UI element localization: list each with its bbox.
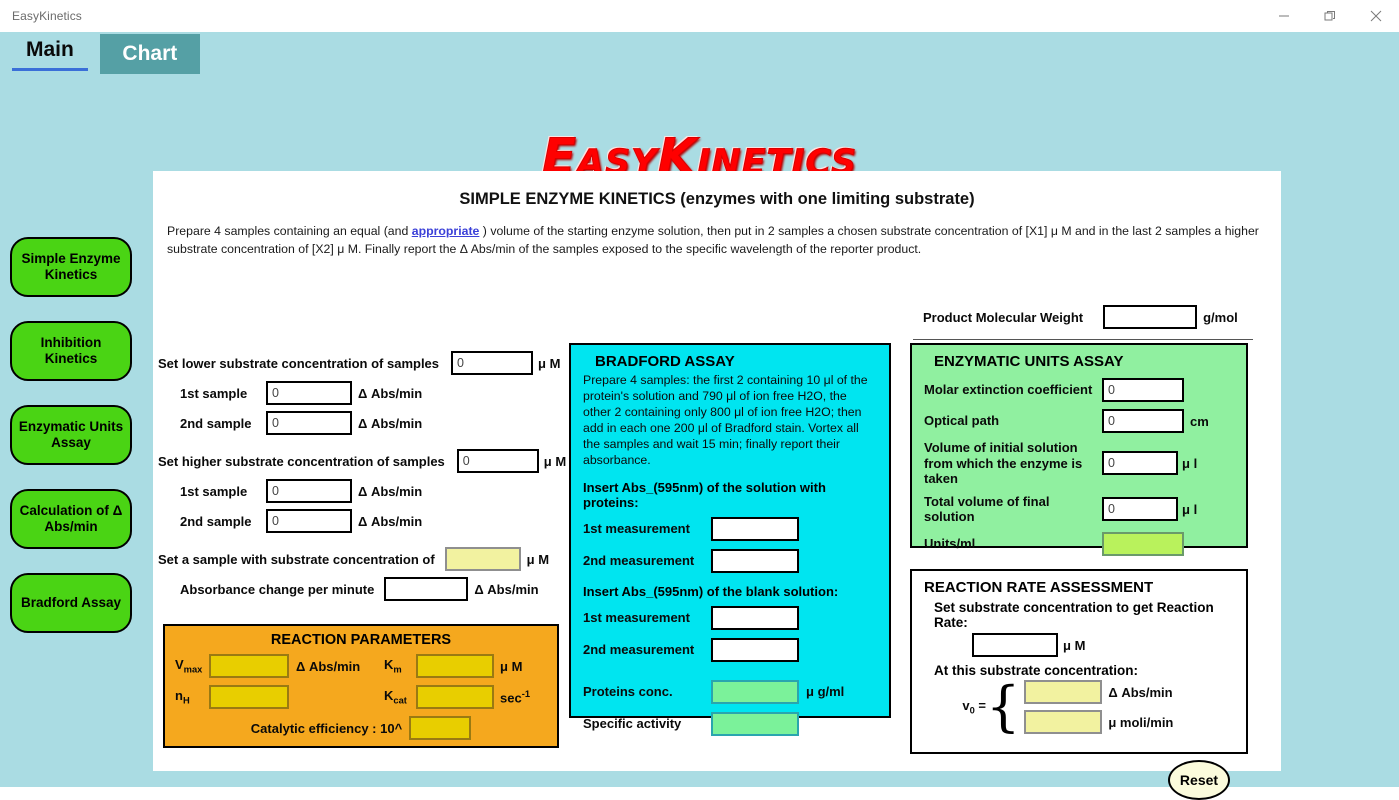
vmax-input[interactable] <box>209 654 289 678</box>
molar-extinction-input[interactable]: 0 <box>1102 378 1184 402</box>
lower-concentration-row: Set lower substrate concentration of sam… <box>158 351 568 375</box>
lower-concentration-input[interactable]: 0 <box>451 351 533 375</box>
bradford-blank-subtitle: Insert Abs_(595nm) of the blank solution… <box>583 584 877 599</box>
higher-concentration-input[interactable]: 0 <box>457 449 539 473</box>
tab-bar: Main Chart <box>0 34 200 78</box>
bradford-assay-panel: BRADFORD ASSAY Prepare 4 samples: the fi… <box>569 343 891 718</box>
units-per-ml-output <box>1102 532 1184 556</box>
bradford-specific-activity-output <box>711 712 799 736</box>
bradford-protein-m2-row: 2nd measurement <box>583 549 877 573</box>
lower-sample1-input[interactable]: 0 <box>266 381 352 405</box>
nh-kcat-row: nH Kcat sec-1 <box>175 685 547 709</box>
bradford-protein-m1-label: 1st measurement <box>583 521 711 536</box>
lower-sample2-input[interactable]: 0 <box>266 411 352 435</box>
volume-initial-input[interactable]: 0 <box>1102 451 1178 475</box>
bradford-description: Prepare 4 samples: the first 2 containin… <box>583 373 877 469</box>
product-mw-label: Product Molecular Weight <box>923 310 1083 325</box>
v0-moli-row: μ moli/min <box>1024 710 1173 734</box>
molar-extinction-row: Molar extinction coefficient 0 <box>924 378 1234 402</box>
bradford-protein-m2-label: 2nd measurement <box>583 553 711 568</box>
reaction-rate-title: REACTION RATE ASSESSMENT <box>924 579 1234 596</box>
bradford-protein-conc-unit: μ g/ml <box>806 684 844 699</box>
vmax-km-row: Vmax Δ Abs/min Km μ M <box>175 654 547 678</box>
higher-sample2-unit: Δ Abs/min <box>358 514 422 529</box>
sidebar-item-calculation-of-delta-abs-min[interactable]: Calculation of Δ Abs/min <box>10 489 132 549</box>
bradford-protein-m1-row: 1st measurement <box>583 517 877 541</box>
window-controls <box>1261 0 1399 32</box>
optical-path-input[interactable]: 0 <box>1102 409 1184 433</box>
nh-input[interactable] <box>209 685 289 709</box>
substrate-form: Set lower substrate concentration of sam… <box>158 351 568 607</box>
sample-concentration-unit: μ M <box>527 552 549 567</box>
kcat-label: Kcat <box>384 688 416 706</box>
reaction-rate-sub-label: Set substrate concentration to get React… <box>934 600 1234 630</box>
brace-icon: { <box>986 687 1020 727</box>
bradford-protein-m2-input[interactable] <box>711 549 799 573</box>
window-title: EasyKinetics <box>0 9 82 23</box>
bradford-blank-m1-label: 1st measurement <box>583 610 711 625</box>
sample-concentration-label: Set a sample with substrate concentratio… <box>158 552 435 567</box>
enzymatic-units-assay-panel: ENZYMATIC UNITS ASSAY Molar extinction c… <box>910 343 1248 548</box>
lower-sample1-row: 1st sample 0 Δ Abs/min <box>180 381 568 405</box>
optical-path-label: Optical path <box>924 413 1102 429</box>
lower-concentration-unit: μ M <box>538 356 560 371</box>
km-label: Km <box>384 657 416 675</box>
km-unit: μ M <box>500 659 522 674</box>
lower-sample1-label: 1st sample <box>180 386 266 401</box>
v0-label: v0 = <box>924 698 986 716</box>
bradford-protein-conc-label: Proteins conc. <box>583 684 711 699</box>
v0-moli-output <box>1024 710 1102 734</box>
bradford-blank-m2-row: 2nd measurement <box>583 638 877 662</box>
bradford-protein-conc-output <box>711 680 799 704</box>
higher-concentration-label: Set higher substrate concentration of sa… <box>158 454 445 469</box>
bradford-protein-m1-input[interactable] <box>711 517 799 541</box>
product-mw-unit: g/mol <box>1203 310 1238 325</box>
units-per-ml-row: Units/ml <box>924 532 1234 556</box>
bradford-blank-m1-row: 1st measurement <box>583 606 877 630</box>
optical-path-row: Optical path 0 cm <box>924 409 1234 433</box>
higher-sample1-label: 1st sample <box>180 484 266 499</box>
higher-sample2-input[interactable]: 0 <box>266 509 352 533</box>
lower-concentration-label: Set lower substrate concentration of sam… <box>158 356 439 371</box>
bradford-specific-activity-label: Specific activity <box>583 716 711 731</box>
reaction-rate-at-label: At this substrate concentration: <box>934 663 1234 678</box>
higher-concentration-unit: μ M <box>544 454 566 469</box>
absorbance-change-input[interactable] <box>384 577 468 601</box>
bradford-blank-m2-label: 2nd measurement <box>583 642 711 657</box>
v0-moli-unit: μ moli/min <box>1108 715 1173 730</box>
enzymatic-units-title: ENZYMATIC UNITS ASSAY <box>924 353 1234 370</box>
volume-total-input[interactable]: 0 <box>1102 497 1178 521</box>
reaction-rate-conc-row: μ M <box>972 633 1234 657</box>
product-molecular-weight-row: Product Molecular Weight g/mol <box>923 305 1238 329</box>
bradford-protein-conc-row: Proteins conc. μ g/ml <box>583 680 877 704</box>
higher-sample2-label: 2nd sample <box>180 514 266 529</box>
kcat-input[interactable] <box>416 685 494 709</box>
volume-total-unit: μ l <box>1182 502 1197 517</box>
reaction-rate-conc-input[interactable] <box>972 633 1058 657</box>
app-body: Main Chart EasyKinetics Simple Enzyme Ki… <box>0 32 1399 787</box>
catalytic-efficiency-row: Catalytic efficiency : 10^ <box>175 716 547 740</box>
title-bar: EasyKinetics <box>0 0 1399 32</box>
higher-sample2-row: 2nd sample 0 Δ Abs/min <box>180 509 568 533</box>
higher-sample1-input[interactable]: 0 <box>266 479 352 503</box>
km-input[interactable] <box>416 654 494 678</box>
absorbance-change-unit: Δ Abs/min <box>474 582 538 597</box>
molar-extinction-label: Molar extinction coefficient <box>924 382 1102 398</box>
units-per-ml-label: Units/ml <box>924 536 1102 552</box>
appropriate-link[interactable]: appropriate <box>412 224 480 238</box>
bradford-title: BRADFORD ASSAY <box>583 353 877 370</box>
catalytic-efficiency-label: Catalytic efficiency : 10^ <box>251 721 402 736</box>
nh-label: nH <box>175 688 209 706</box>
reset-button[interactable]: Reset <box>1168 760 1230 800</box>
lower-sample2-label: 2nd sample <box>180 416 266 431</box>
reaction-rate-conc-unit: μ M <box>1063 638 1085 653</box>
lower-sample2-row: 2nd sample 0 Δ Abs/min <box>180 411 568 435</box>
sidebar-item-bradford-assay[interactable]: Bradford Assay <box>10 573 132 633</box>
volume-total-row: Total volume of final solution 0 μ l <box>924 494 1234 525</box>
higher-sample1-row: 1st sample 0 Δ Abs/min <box>180 479 568 503</box>
bradford-blank-m2-input[interactable] <box>711 638 799 662</box>
lower-sample1-unit: Δ Abs/min <box>358 386 422 401</box>
sample-concentration-input[interactable] <box>445 547 521 571</box>
reaction-rate-results: v0 = { Δ Abs/min μ moli/min <box>924 680 1234 734</box>
vmax-unit: Δ Abs/min <box>296 659 372 674</box>
page-description: Prepare 4 samples containing an equal (a… <box>167 223 1267 259</box>
bradford-specific-activity-row: Specific activity <box>583 712 877 736</box>
reaction-parameters-title: REACTION PARAMETERS <box>175 632 547 648</box>
sidebar-item-simple-enzyme-kinetics[interactable]: Simple Enzyme Kinetics <box>10 237 132 297</box>
v0-abs-row: Δ Abs/min <box>1024 680 1173 704</box>
main-panel: SIMPLE ENZYME KINETICS (enzymes with one… <box>153 171 1281 771</box>
optical-path-unit: cm <box>1190 414 1209 429</box>
higher-sample1-unit: Δ Abs/min <box>358 484 422 499</box>
description-text-part1: Prepare 4 samples containing an equal (a… <box>167 224 412 238</box>
kcat-unit: sec-1 <box>500 689 530 705</box>
catalytic-efficiency-input[interactable] <box>409 716 471 740</box>
absorbance-change-label: Absorbance change per minute <box>180 582 374 597</box>
volume-initial-row: Volume of initial solution from which th… <box>924 440 1234 487</box>
volume-initial-label: Volume of initial solution from which th… <box>924 440 1102 487</box>
sample-concentration-row: Set a sample with substrate concentratio… <box>158 547 568 571</box>
absorbance-change-row: Absorbance change per minute Δ Abs/min <box>180 577 568 601</box>
tab-main[interactable]: Main <box>12 34 88 71</box>
reaction-parameters-panel: REACTION PARAMETERS Vmax Δ Abs/min Km μ … <box>163 624 559 748</box>
product-mw-input[interactable] <box>1103 305 1197 329</box>
reaction-rate-panel: REACTION RATE ASSESSMENT Set substrate c… <box>910 569 1248 754</box>
v0-abs-output <box>1024 680 1102 704</box>
lower-sample2-unit: Δ Abs/min <box>358 416 422 431</box>
tab-chart[interactable]: Chart <box>100 34 200 74</box>
page-title: SIMPLE ENZYME KINETICS (enzymes with one… <box>153 190 1281 209</box>
higher-concentration-row: Set higher substrate concentration of sa… <box>158 449 568 473</box>
minimize-button[interactable] <box>1261 0 1307 32</box>
bradford-proteins-subtitle: Insert Abs_(595nm) of the solution with … <box>583 480 877 510</box>
restore-button[interactable] <box>1307 0 1353 32</box>
vmax-label: Vmax <box>175 657 209 675</box>
sidebar: Simple Enzyme Kinetics Inhibition Kineti… <box>10 237 136 657</box>
sidebar-item-enzymatic-units-assay[interactable]: Enzymatic Units Assay <box>10 405 132 465</box>
sidebar-item-inhibition-kinetics[interactable]: Inhibition Kinetics <box>10 321 132 381</box>
bradford-blank-m1-input[interactable] <box>711 606 799 630</box>
header-divider <box>913 339 1253 340</box>
volume-initial-unit: μ l <box>1182 456 1197 471</box>
v0-abs-unit: Δ Abs/min <box>1108 685 1172 700</box>
close-button[interactable] <box>1353 0 1399 32</box>
volume-total-label: Total volume of final solution <box>924 494 1102 525</box>
